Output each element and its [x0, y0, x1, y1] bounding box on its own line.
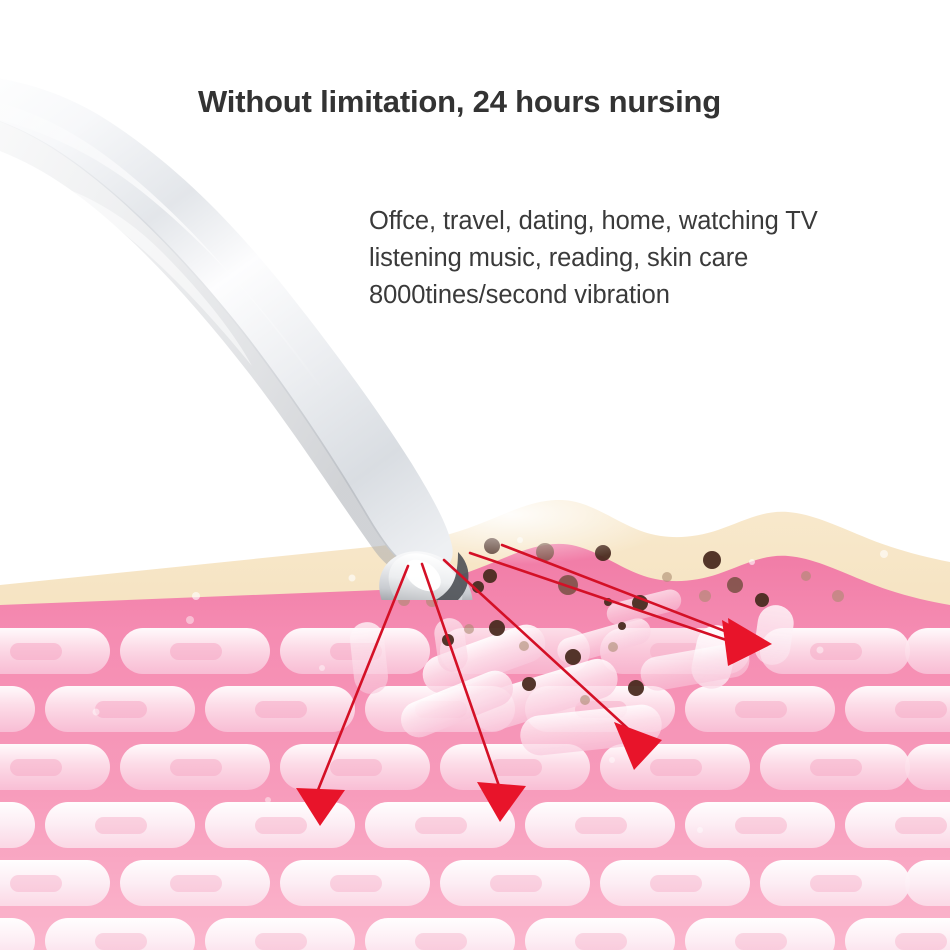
feature-line-3: 8000tines/second vibration [369, 277, 929, 314]
dermis-cell-grid [0, 587, 950, 950]
melanin-spot [464, 624, 474, 634]
melanin-spot [755, 593, 769, 607]
melanin-spot [628, 680, 644, 696]
skin-cross-section-illustration [0, 500, 950, 950]
product-feature-image: Without limitation, 24 hours nursing Off… [0, 0, 950, 950]
melanin-spot [618, 622, 626, 630]
wand-body [0, 75, 453, 573]
melanin-spot [580, 695, 590, 705]
melanin-spot [519, 641, 529, 651]
melanin-spot [522, 677, 536, 691]
page-title: Without limitation, 24 hours nursing [198, 84, 898, 120]
melanin-spot [832, 590, 844, 602]
melanin-spot [608, 642, 618, 652]
feature-line-2: listening music, reading, skin care [369, 240, 929, 277]
wand-highlight-secondary [0, 156, 252, 366]
melanin-spot [489, 620, 505, 636]
melanin-spot [801, 571, 811, 581]
melanin-spot [565, 649, 581, 665]
feature-description: Offce, travel, dating, home, watching TV… [369, 203, 929, 314]
feature-line-1: Offce, travel, dating, home, watching TV [369, 203, 929, 240]
melanin-spot [442, 634, 454, 646]
wand-highlight [0, 94, 390, 494]
